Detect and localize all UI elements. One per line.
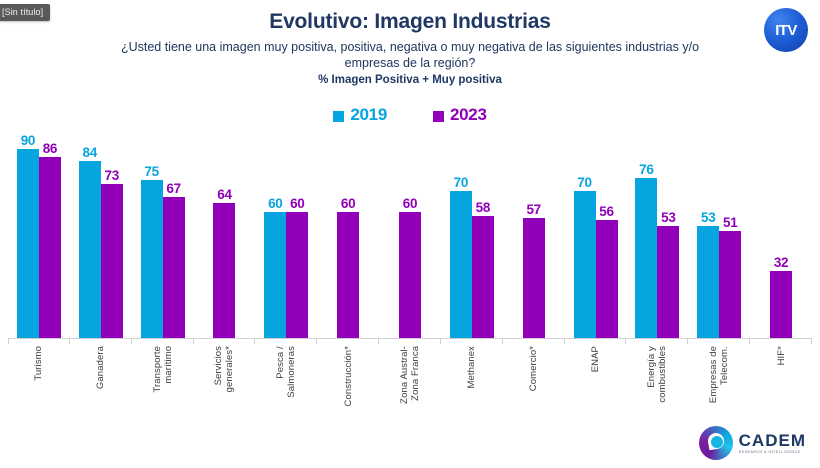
x-axis-label-cell: Ganadera (70, 346, 132, 446)
x-axis-label: HIF* (776, 346, 787, 365)
bar-column[interactable]: 60 (264, 138, 286, 338)
itv-logo-label: ITV (775, 22, 797, 39)
bar-column[interactable]: 58 (472, 138, 494, 338)
bar-value-label: 53 (661, 210, 675, 225)
bar-value-label: 58 (476, 200, 490, 215)
x-axis-tick (255, 338, 317, 344)
bar-column[interactable]: 51 (719, 138, 741, 338)
bar-group: 7653 (626, 138, 688, 338)
x-axis-label: Zona Austral- Zona Franca (399, 346, 421, 404)
bar-column[interactable]: 75 (141, 138, 163, 338)
x-axis-tick (503, 338, 565, 344)
x-axis-tick (8, 338, 70, 344)
x-axis-tick (317, 338, 379, 344)
bar-value-label: 60 (341, 196, 355, 211)
legend-swatch-icon (433, 111, 444, 122)
bar-group: 7056 (565, 138, 627, 338)
bar-group: 32 (750, 138, 812, 338)
bar-group: 7567 (132, 138, 194, 338)
bar-column[interactable]: 73 (101, 138, 123, 338)
x-axis-label: Transporte marítimo (152, 346, 174, 393)
x-axis-tick (379, 338, 441, 344)
cadem-logo-label: CADEM (739, 432, 806, 449)
bar-2023[interactable] (472, 216, 494, 338)
bar-value-label: 60 (268, 196, 282, 211)
x-axis-label: Methanex (466, 346, 477, 389)
x-axis-label: Comercio* (528, 346, 539, 391)
legend-label: 2023 (450, 105, 487, 125)
bar-group: 5351 (688, 138, 750, 338)
x-axis-label: Turismo (33, 346, 44, 381)
bar-value-label: 67 (166, 181, 180, 196)
chart-subtitle: ¿Usted tiene una imagen muy positiva, po… (110, 39, 710, 71)
x-axis-tick (750, 338, 812, 344)
x-axis-tick (565, 338, 627, 344)
bar-2019[interactable] (79, 161, 101, 338)
x-axis-ticks (8, 338, 812, 344)
x-axis-label-cell: Pesca / Salmoneras (255, 346, 317, 446)
x-axis-label-cell: ENAP (565, 346, 627, 446)
bar-column[interactable]: 60 (337, 138, 359, 338)
x-axis-label: Empresas de Telecom. (708, 346, 730, 403)
bar-2023[interactable] (596, 220, 618, 338)
legend-item-2019[interactable]: 2019 (333, 105, 387, 125)
bar-column[interactable]: 32 (770, 138, 792, 338)
x-axis-label: Pesca / Salmoneras (275, 346, 297, 398)
bar-2023[interactable] (719, 231, 741, 338)
cadem-logo: CADEM RESEARCH & INTELLIGENCE (699, 426, 806, 460)
bar-group: 64 (194, 138, 256, 338)
x-axis-tick (441, 338, 503, 344)
bar-column[interactable]: 57 (523, 138, 545, 338)
bar-value-label: 70 (454, 175, 468, 190)
bar-2019[interactable] (264, 212, 286, 338)
bar-2019[interactable] (17, 149, 39, 338)
bar-2023[interactable] (39, 157, 61, 338)
bar-column[interactable]: 84 (79, 138, 101, 338)
bar-value-label: 76 (639, 162, 653, 177)
bar-group: 6060 (255, 138, 317, 338)
bar-value-label: 90 (21, 133, 35, 148)
bar-group: 60 (317, 138, 379, 338)
bar-column[interactable]: 60 (286, 138, 308, 338)
x-axis-label: Servicios generales* (213, 346, 235, 392)
bar-column[interactable]: 76 (635, 138, 657, 338)
bar-2023[interactable] (101, 184, 123, 338)
bar-2023[interactable] (213, 203, 235, 338)
cadem-logo-tagline: RESEARCH & INTELLIGENCE (739, 451, 806, 455)
bar-column[interactable]: 60 (399, 138, 421, 338)
bar-2023[interactable] (337, 212, 359, 338)
x-axis-tick (70, 338, 132, 344)
page-title: Evolutivo: Imagen Industrias (0, 10, 820, 34)
x-axis-label: Energía y combustibles (646, 346, 668, 403)
bar-2023[interactable] (399, 212, 421, 338)
bar-column[interactable]: 64 (213, 138, 235, 338)
bar-group: 9086 (8, 138, 70, 338)
x-axis-label-cell: Comercio* (503, 346, 565, 446)
bar-value-label: 75 (144, 164, 158, 179)
bar-2019[interactable] (635, 178, 657, 338)
bar-value-label: 84 (83, 145, 97, 160)
x-axis-tick (132, 338, 194, 344)
bar-2023[interactable] (286, 212, 308, 338)
bar-group: 7058 (441, 138, 503, 338)
bar-group: 57 (503, 138, 565, 338)
bar-value-label: 32 (774, 255, 788, 270)
bar-column[interactable]: 53 (657, 138, 679, 338)
x-axis-label: Ganadera (95, 346, 106, 389)
chart-header: Evolutivo: Imagen Industrias ¿Usted tien… (0, 0, 820, 86)
x-axis-label-cell: Transporte marítimo (132, 346, 194, 446)
bar-2023[interactable] (523, 218, 545, 338)
bar-group: 60 (379, 138, 441, 338)
itv-logo-icon: ITV (764, 8, 808, 52)
bar-value-label: 60 (403, 196, 417, 211)
x-axis-label-cell: Construcción* (317, 346, 379, 446)
chart-plot-area: 9086847375676460606060705857705676535351… (8, 138, 812, 338)
legend-label: 2019 (350, 105, 387, 125)
bar-value-label: 57 (526, 202, 540, 217)
bar-2023[interactable] (657, 226, 679, 338)
bar-value-label: 56 (599, 204, 613, 219)
bar-column[interactable]: 90 (17, 138, 39, 338)
bar-2019[interactable] (141, 180, 163, 338)
x-axis-label-cell: Turismo (8, 346, 70, 446)
bar-value-label: 70 (577, 175, 591, 190)
bar-value-label: 60 (290, 196, 304, 211)
bar-2019[interactable] (697, 226, 719, 338)
x-axis-tick (194, 338, 256, 344)
cadem-mark-icon (699, 426, 733, 460)
bar-2019[interactable] (574, 191, 596, 338)
bar-2023[interactable] (163, 197, 185, 338)
x-axis-label: ENAP (590, 346, 601, 372)
chart-metric-label: % Imagen Positiva + Muy positiva (0, 74, 820, 86)
bar-value-label: 73 (105, 168, 119, 183)
bar-column[interactable]: 56 (596, 138, 618, 338)
bar-value-label: 86 (43, 141, 57, 156)
x-axis-label-cell: Methanex (441, 346, 503, 446)
x-axis-tick (626, 338, 688, 344)
bar-column[interactable]: 67 (163, 138, 185, 338)
bar-value-label: 64 (217, 187, 231, 202)
x-axis-labels: TurismoGanaderaTransporte marítimoServic… (8, 346, 812, 446)
bar-column[interactable]: 53 (697, 138, 719, 338)
bar-column[interactable]: 70 (450, 138, 472, 338)
x-axis-label-cell: Zona Austral- Zona Franca (379, 346, 441, 446)
x-axis-label-cell: Servicios generales* (194, 346, 256, 446)
chart-legend: 20192023 (0, 105, 820, 125)
legend-item-2023[interactable]: 2023 (433, 105, 487, 125)
bar-value-label: 53 (701, 210, 715, 225)
bar-2019[interactable] (450, 191, 472, 338)
x-axis-label: Construcción* (343, 346, 354, 406)
bar-value-label: 51 (723, 215, 737, 230)
legend-swatch-icon (333, 111, 344, 122)
bar-column[interactable]: 70 (574, 138, 596, 338)
bar-2023[interactable] (770, 271, 792, 338)
bar-column[interactable]: 86 (39, 138, 61, 338)
bar-group: 8473 (70, 138, 132, 338)
x-axis-tick (688, 338, 750, 344)
x-axis-label-cell: Energía y combustibles (626, 346, 688, 446)
